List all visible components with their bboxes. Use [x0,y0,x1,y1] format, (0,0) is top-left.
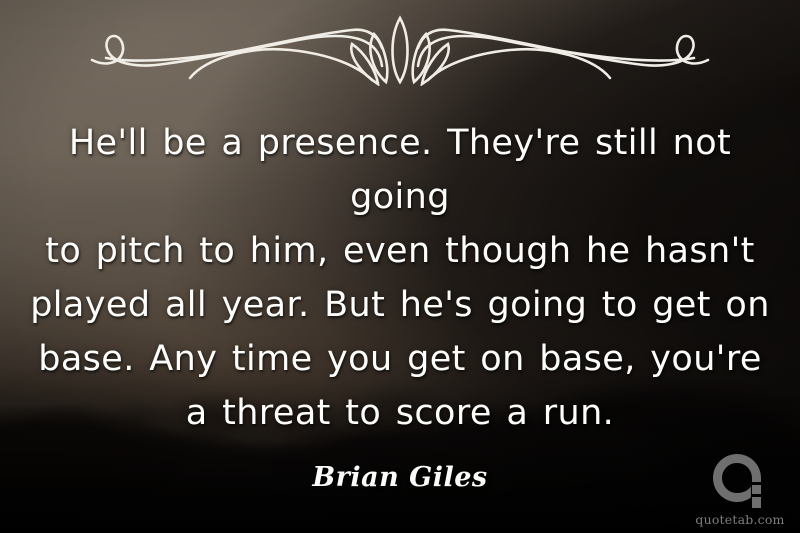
quote-line: base. Any time you get on base, you're [30,332,770,386]
flourish-ornament-icon [90,14,710,86]
watermark-site-label: quotetab.com [695,512,784,527]
watermark[interactable]: quotetab.com [692,452,788,527]
quote-image-card: He'll be a presence. They're still not g… [0,0,800,533]
quote-line: to pitch to him, even though he hasn't [30,224,770,278]
quote-line: played all year. But he's going to get o… [30,278,770,332]
quote-line: He'll be a presence. They're still not g… [30,116,770,224]
card-content: He'll be a presence. They're still not g… [0,0,800,533]
quotetab-logo-icon [711,452,769,510]
quote-text: He'll be a presence. They're still not g… [30,116,770,440]
quote-line: a threat to score a run. [30,386,770,440]
author-name: Brian Giles [0,462,800,493]
